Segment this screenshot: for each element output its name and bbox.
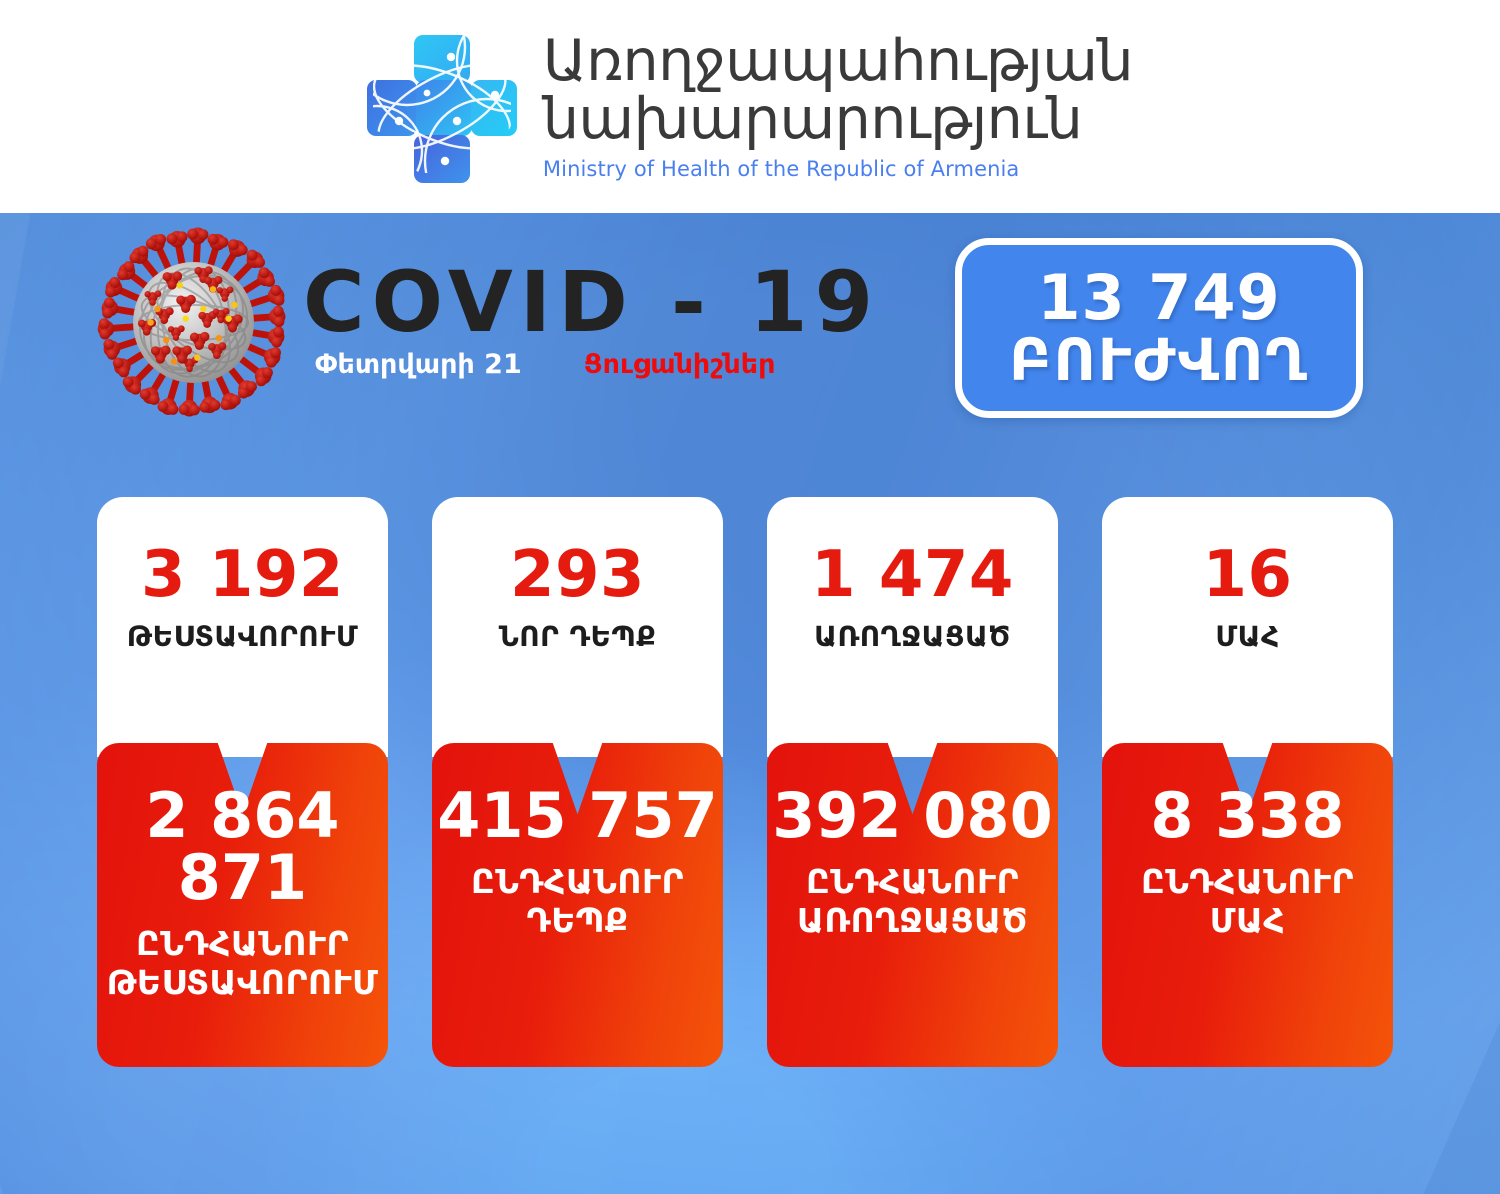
total-label: ԸՆԴՀԱՆՈՒՐ ԱՌՈՂՋԱՑԱԾ xyxy=(767,863,1058,941)
stat-card-recovered: 1 474 ԱՌՈՂՋԱՑԱԾ 392 080 ԸՆԴՀԱՆՈՒՐ ԱՌՈՂՋԱ… xyxy=(767,497,1058,1067)
coronavirus-icon xyxy=(96,225,291,420)
total-label: ԸՆԴՀԱՆՈՒՐ ԹԵՍՏԱՎՈՐՈՒՄ xyxy=(97,925,388,1003)
covid-infographic: Առողջապահության նախարարություն Ministry … xyxy=(0,0,1500,1194)
covid-title-block: COVID - 19 Փետրվարի 21 Ցուցանիշներ xyxy=(303,261,880,380)
ministry-name-en: Ministry of Health of the Republic of Ar… xyxy=(543,157,1133,181)
recovering-label: ԲՈՒԺՎՈՂ xyxy=(1009,330,1309,391)
total-value: 8 338 xyxy=(1102,785,1393,847)
card-daily-section: 3 192 ԹԵՍՏԱՎՈՐՈՒՄ xyxy=(97,497,388,757)
date-label: Փետրվարի 21 xyxy=(315,349,522,380)
daily-value: 293 xyxy=(432,543,723,607)
total-label-line1: ԸՆԴՀԱՆՈՒՐ xyxy=(1141,862,1354,901)
daily-value: 1 474 xyxy=(767,543,1058,607)
total-label-line2: ՄԱՀ xyxy=(1102,902,1393,941)
total-label-line1: ԸՆԴՀԱՆՈՒՐ xyxy=(136,924,349,963)
daily-label: ԹԵՍՏԱՎՈՐՈՒՄ xyxy=(97,621,388,653)
card-daily-section: 293 ՆՈՐ ԴԵՊՔ xyxy=(432,497,723,757)
total-label-line2: ԱՌՈՂՋԱՑԱԾ xyxy=(767,902,1058,941)
daily-value: 16 xyxy=(1102,543,1393,607)
ministry-logo-block: Առողջապահության նախարարություն Ministry … xyxy=(367,31,1133,183)
stat-card-deaths: 16 ՄԱՀ 8 338 ԸՆԴՀԱՆՈՒՐ ՄԱՀ xyxy=(1102,497,1393,1067)
recovering-value: 13 749 xyxy=(1037,265,1280,330)
page-title: COVID - 19 xyxy=(303,261,880,343)
ministry-name-hy-line2: նախարարություն xyxy=(543,90,1133,148)
title-row: COVID - 19 Փետրվարի 21 Ցուցանիշներ 13 74… xyxy=(0,213,1500,473)
stat-card-new-cases: 293 ՆՈՐ ԴԵՊՔ 415 757 ԸՆԴՀԱՆՈՒՐ ԴԵՊՔ xyxy=(432,497,723,1067)
total-label: ԸՆԴՀԱՆՈՒՐ ՄԱՀ xyxy=(1102,863,1393,941)
infographic-body: COVID - 19 Փետրվարի 21 Ցուցանիշներ 13 74… xyxy=(0,213,1500,1194)
daily-label: ՆՈՐ ԴԵՊՔ xyxy=(432,621,723,653)
daily-label: ԱՌՈՂՋԱՑԱԾ xyxy=(767,621,1058,653)
indicators-label: Ցուցանիշներ xyxy=(584,349,776,380)
total-label-line1: ԸՆԴՀԱՆՈՒՐ xyxy=(471,862,684,901)
ministry-cross-network-logo-icon xyxy=(367,31,517,183)
total-label: ԸՆԴՀԱՆՈՒՐ ԴԵՊՔ xyxy=(432,863,723,941)
stat-card-row: 3 192 ԹԵՍՏԱՎՈՐՈՒՄ 2 864 871 ԸՆԴՀԱՆՈՒՐ ԹԵ… xyxy=(97,497,1403,1067)
ministry-header: Առողջապահության նախարարություն Ministry … xyxy=(0,0,1500,213)
total-value: 392 080 xyxy=(767,785,1058,847)
total-label-line2: ԹԵՍՏԱՎՈՐՈՒՄ xyxy=(97,964,388,1003)
daily-value: 3 192 xyxy=(97,543,388,607)
total-value: 2 864 871 xyxy=(97,785,388,909)
card-daily-section: 16 ՄԱՀ xyxy=(1102,497,1393,757)
stat-card-testing: 3 192 ԹԵՍՏԱՎՈՐՈՒՄ 2 864 871 ԸՆԴՀԱՆՈՒՐ ԹԵ… xyxy=(97,497,388,1067)
recovering-badge: 13 749 ԲՈՒԺՎՈՂ xyxy=(955,238,1363,418)
daily-label: ՄԱՀ xyxy=(1102,621,1393,653)
ministry-name-text: Առողջապահության նախարարություն Ministry … xyxy=(543,32,1133,181)
total-label-line2: ԴԵՊՔ xyxy=(432,902,723,941)
total-value: 415 757 xyxy=(432,785,723,847)
total-label-line1: ԸՆԴՀԱՆՈՒՐ xyxy=(806,862,1019,901)
title-subtitle-row: Փետրվարի 21 Ցուցանիշներ xyxy=(303,349,880,380)
card-daily-section: 1 474 ԱՌՈՂՋԱՑԱԾ xyxy=(767,497,1058,757)
ministry-name-hy-line1: Առողջապահության xyxy=(543,32,1133,90)
